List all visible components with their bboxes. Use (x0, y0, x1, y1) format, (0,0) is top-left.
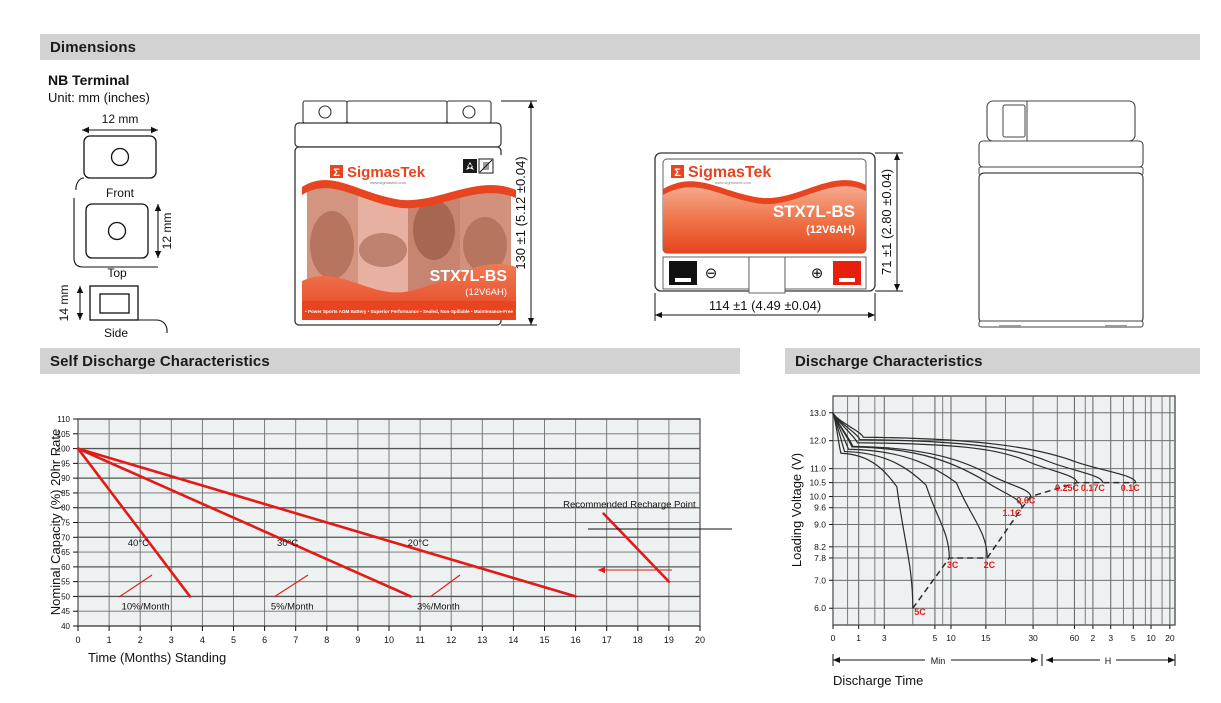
brand-name-front: SigmasTek (347, 164, 426, 181)
self-discharge-xtick: 2 (138, 635, 143, 645)
battery-depth-dim: 71 ±1 (2.80 ±0.04) (879, 169, 894, 275)
discharge-ylabel: Loading Voltage (V) (789, 453, 804, 567)
self-discharge-xtick: 1 (107, 635, 112, 645)
battery-tagline-front: • Power Sports AGM Battery • Superior Pe… (305, 309, 513, 314)
discharge-ytick: 9.0 (814, 519, 826, 529)
brand-website-front: www.sigmastek.com (370, 180, 407, 185)
top-height-dim: 12 mm (160, 213, 174, 250)
side-view-label: Side (104, 326, 128, 340)
discharge-rate-label-5C: 5C (914, 607, 926, 617)
self-discharge-xtick: 5 (231, 635, 236, 645)
axis-group-hour-label: H (1105, 656, 1112, 666)
section-title-dimensions: Dimensions (50, 39, 136, 56)
discharge-rate-label-1_1C: 1.1C (1002, 508, 1022, 518)
self-discharge-xtick: 13 (477, 635, 487, 645)
top-view-label: Top (107, 266, 127, 280)
brand-sigma-mark: Σ (333, 167, 340, 179)
self-discharge-xtick: 3 (169, 635, 174, 645)
battery-end-view (965, 95, 1180, 335)
battery-front-view: • Power Sports AGM Battery • Superior Pe… (285, 95, 560, 335)
discharge-ytick: 7.0 (814, 575, 826, 585)
self-discharge-annotation: 30°C (277, 538, 298, 549)
battery-model-side: STX7L-BS (773, 202, 855, 221)
discharge-rate-label-2C: 2C (984, 560, 996, 570)
section-title-discharge: Discharge Characteristics (795, 353, 983, 370)
discharge-xtick: 3 (1108, 633, 1113, 643)
terminal-diagrams: 12 mm Front 12 mm Top 14 mm Side (46, 72, 256, 337)
brand-sigma-mark-side: Σ (674, 167, 681, 179)
self-discharge-xtick: 0 (75, 635, 80, 645)
discharge-ytick: 10.0 (809, 492, 826, 502)
discharge-rate-label-0_6C: 0.6C (1016, 496, 1036, 506)
self-discharge-xtick: 6 (262, 635, 267, 645)
self-discharge-xtick: 8 (324, 635, 329, 645)
battery-capacity-side: (12V6AH) (806, 224, 855, 236)
self-discharge-xtick: 19 (664, 635, 674, 645)
battery-width-dim: 114 ±1 (4.49 ±0.04) (709, 298, 821, 313)
self-discharge-annotation: Recommended Recharge Point (563, 500, 696, 511)
discharge-rate-label-0_1C: 0.1C (1121, 483, 1141, 493)
self-discharge-annotation: 20°C (408, 538, 429, 549)
self-discharge-xlabel: Time (Months) Standing (88, 650, 226, 665)
axis-range-brackets (833, 654, 1175, 666)
self-discharge-xtick: 20 (695, 635, 705, 645)
discharge-xtick: 5 (933, 633, 938, 643)
front-view-label: Front (106, 186, 135, 200)
discharge-ytick: 11.0 (810, 464, 826, 474)
battery-model-front: STX7L-BS (430, 268, 508, 285)
discharge-xlabel: Discharge Time (833, 673, 923, 688)
discharge-xtick: 2 (1091, 633, 1096, 643)
discharge-ytick: 13.0 (809, 408, 826, 418)
self-discharge-xtick: 4 (200, 635, 205, 645)
section-header-self-discharge: Self Discharge Characteristics (40, 348, 740, 374)
discharge-xtick: 10 (1146, 633, 1156, 643)
battery-capacity-front: (12V6AH) (465, 287, 507, 298)
discharge-ytick: 12.0 (809, 436, 826, 446)
front-width-dim: 12 mm (102, 112, 139, 126)
self-discharge-xtick: 17 (602, 635, 612, 645)
discharge-xtick: 0 (831, 633, 836, 643)
self-discharge-xtick: 10 (384, 635, 394, 645)
section-header-dimensions: Dimensions (40, 34, 1200, 60)
discharge-xtick: 15 (981, 633, 991, 643)
self-discharge-xtick: 11 (415, 635, 424, 645)
self-discharge-ytick: 110 (57, 415, 70, 424)
battery-side-view: Σ SigmasTek www.sigmastek.com STX7L-BS (… (645, 145, 930, 340)
section-title-self-discharge: Self Discharge Characteristics (50, 353, 270, 370)
self-discharge-xtick: 15 (539, 635, 549, 645)
self-discharge-annotation: 3%/Month (417, 602, 460, 613)
self-discharge-xtick: 14 (508, 635, 518, 645)
discharge-xtick: 20 (1165, 633, 1175, 643)
section-header-discharge: Discharge Characteristics (785, 348, 1200, 374)
discharge-ytick: 10.5 (809, 478, 826, 488)
discharge-xtick: 10 (946, 633, 956, 643)
self-discharge-chart: 404550556065707580859095100105110 012345… (40, 400, 740, 690)
axis-group-min-label: Min (931, 656, 946, 666)
discharge-chart: 13.012.011.010.510.09.69.08.27.87.06.0 0… (785, 382, 1205, 692)
self-discharge-xtick: 7 (293, 635, 298, 645)
discharge-rate-label-3C: 3C (947, 560, 959, 570)
battery-height-dim: 130 ±1 (5.12 ±0.04) (513, 156, 528, 269)
self-discharge-xtick: 16 (571, 635, 581, 645)
self-discharge-annotation: 40°C (128, 538, 149, 549)
discharge-xtick: 30 (1028, 633, 1038, 643)
recycle-icon (463, 159, 477, 173)
brand-name-side: SigmasTek (688, 164, 771, 181)
self-discharge-ylabel: Nominal Capacity (%) 20hr Rate (48, 429, 63, 615)
self-discharge-ytick: 40 (61, 622, 70, 631)
discharge-xtick: 1 (856, 633, 861, 643)
discharge-rate-label-0_25C: 0.25C (1055, 483, 1080, 493)
negative-terminal-symbol: ⊖ (705, 265, 718, 282)
self-discharge-xtick: 12 (446, 635, 456, 645)
positive-terminal-symbol: ⊕ (811, 265, 824, 282)
self-discharge-xtick: 18 (633, 635, 643, 645)
side-height-dim: 14 mm (57, 285, 71, 322)
discharge-xtick: 3 (882, 633, 887, 643)
discharge-xtick: 60 (1070, 633, 1080, 643)
discharge-ytick: 6.0 (814, 603, 826, 613)
discharge-ytick: 8.2 (814, 542, 826, 552)
brand-website-side: www.sigmastek.com (715, 180, 752, 185)
self-discharge-xtick: 9 (355, 635, 360, 645)
discharge-ytick: 7.8 (814, 553, 826, 563)
self-discharge-annotation: 5%/Month (271, 602, 314, 613)
discharge-xtick: 5 (1131, 633, 1136, 643)
discharge-ytick: 9.6 (814, 503, 826, 513)
self-discharge-annotation: 10%/Month (122, 602, 170, 613)
discharge-rate-label-0_17C: 0.17C (1081, 483, 1106, 493)
